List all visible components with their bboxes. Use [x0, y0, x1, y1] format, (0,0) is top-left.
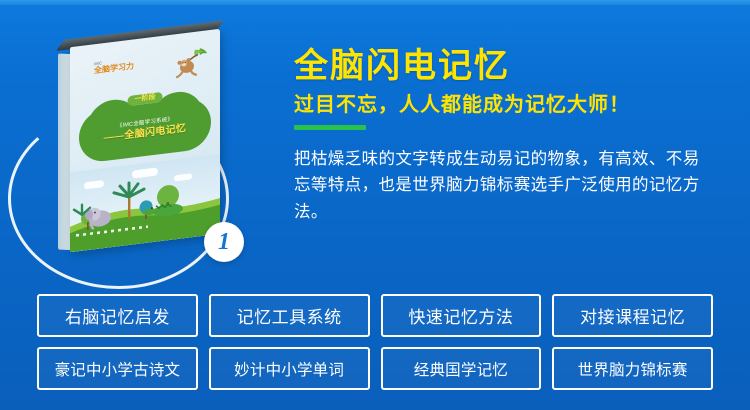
page-title: 全脑闪电记忆: [294, 48, 724, 85]
book-cover: IMC 全脑学习力: [70, 29, 220, 252]
title-divider: [294, 125, 366, 130]
feature-tag[interactable]: 世界脑力锦标赛: [552, 347, 713, 390]
feature-tag-row: 右脑记忆启发 记忆工具系统 快速记忆方法 对接课程记忆: [37, 294, 713, 337]
feature-tag[interactable]: 对接课程记忆: [552, 294, 713, 337]
feature-tag[interactable]: 快速记忆方法: [381, 294, 542, 337]
brand-logo: IMC 全脑学习力: [94, 56, 142, 78]
feature-tag-row: 豪记中小学古诗文 妙计中小学单词 经典国学记忆 世界脑力锦标赛: [37, 347, 713, 390]
page-subtitle: 过目不忘，人人都能成为记忆大师！: [294, 93, 724, 117]
promo-banner: IMC 全脑学习力: [0, 0, 750, 410]
feature-tag[interactable]: 妙计中小学单词: [209, 347, 370, 390]
step-number-label: 1: [218, 230, 230, 254]
step-number-badge: 1: [204, 222, 244, 262]
product-artwork: IMC 全脑学习力: [0, 0, 285, 290]
hero-copy: 全脑闪电记忆 过目不忘，人人都能成为记忆大师！ 把枯燥乏味的文字转成生动易记的物…: [294, 48, 724, 226]
book-mockup: IMC 全脑学习力: [70, 29, 220, 252]
feature-tag[interactable]: 记忆工具系统: [209, 294, 370, 337]
stage-label: 一阶段: [128, 92, 163, 106]
feature-tag[interactable]: 右脑记忆启发: [37, 294, 198, 337]
monkey-icon: [170, 44, 210, 85]
feature-tag[interactable]: 豪记中小学古诗文: [37, 347, 198, 390]
hero-description: 把枯燥乏味的文字转成生动易记的物象，有高效、不易忘等特点，也是世界脑力锦标赛选手…: [294, 146, 712, 226]
feature-tag[interactable]: 经典国学记忆: [381, 347, 542, 390]
feature-tag-grid: 右脑记忆启发 记忆工具系统 快速记忆方法 对接课程记忆 豪记中小学古诗文 妙计中…: [37, 294, 713, 390]
